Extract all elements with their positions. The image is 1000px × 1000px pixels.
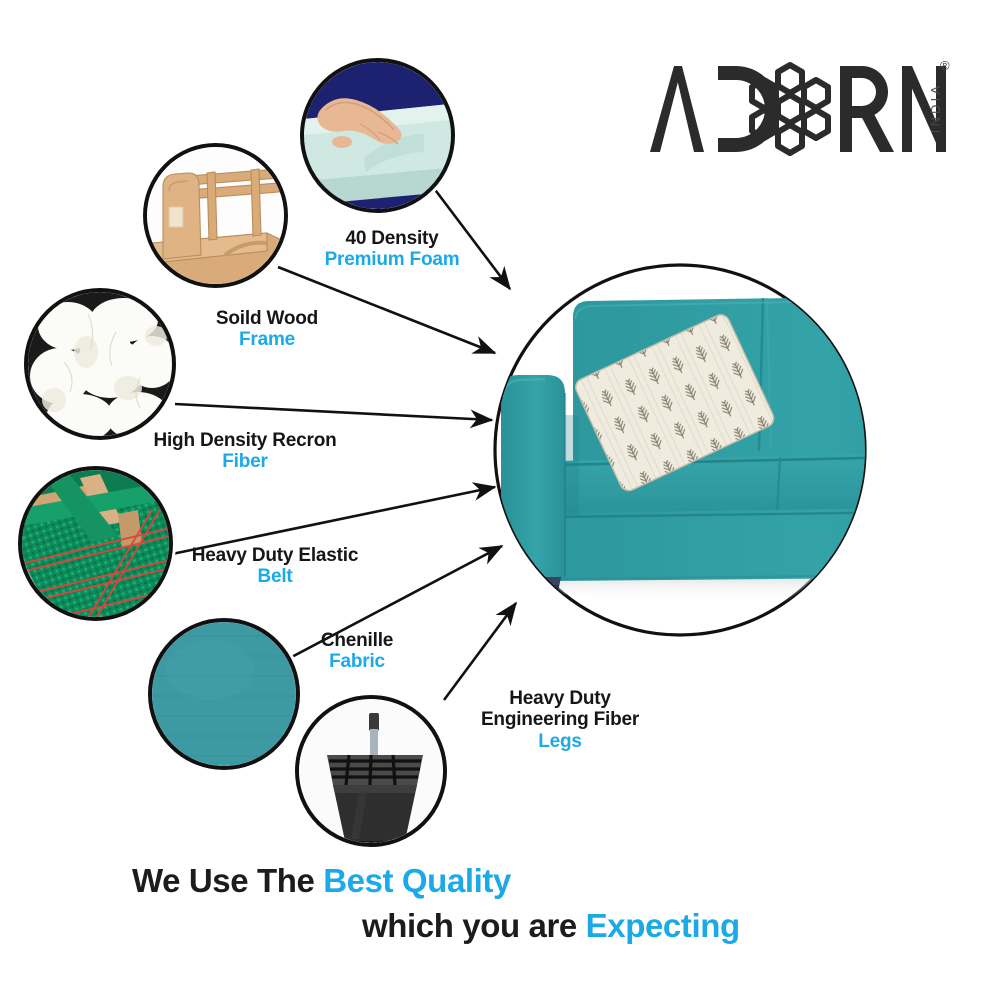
wooden-sofa-frame-photo [147,147,284,284]
label-fiber-legs-line2: Legs [450,731,670,752]
label-elastic-belt: Heavy Duty Elastic Belt [150,545,400,588]
label-wood-frame-line2: Frame [162,329,372,350]
label-premium-foam-line1: 40 Density [292,228,492,249]
label-chenille-fabric-line1: Chenille [272,630,442,651]
label-premium-foam-line2: Premium Foam [292,249,492,270]
label-elastic-belt-line1: Heavy Duty Elastic [150,545,400,566]
tagline-part4: Expecting [586,907,740,944]
feature-circle-recron-fiber [24,288,176,440]
tagline-line-1: We Use The Best Quality [0,862,1000,900]
arrow-fiber-legs [444,603,516,700]
label-elastic-belt-line2: Belt [150,566,400,587]
black-plastic-sofa-leg-photo [299,699,443,843]
green-elastic-webbing-photo [22,470,169,617]
feature-circle-fiber-legs [295,695,447,847]
logo-trademark: ® [940,58,950,73]
feature-circle-elastic-belt [18,466,173,621]
arrow-recron-fiber [175,404,492,420]
label-fiber-legs: Heavy Duty Engineering Fiber Legs [450,688,670,752]
tagline-line-2: which you are Expecting [0,907,1000,945]
label-fiber-legs-line1b: Engineering Fiber [450,709,670,730]
feature-circle-premium-foam [300,58,455,213]
label-chenille-fabric: Chenille Fabric [272,630,442,673]
tagline-part3: which you are [362,907,586,944]
tagline: We Use The Best Quality which you are Ex… [0,862,1000,945]
brand-logo: INDIA ® [640,52,950,162]
label-chenille-fabric-line2: Fabric [272,651,442,672]
label-recron-fiber: High Density Recron Fiber [110,430,380,473]
infographic-canvas: INDIA ® 40 Density Premium Foam [0,0,1000,1000]
logo-country-text: INDIA [928,83,943,134]
label-premium-foam: 40 Density Premium Foam [292,228,492,271]
arrow-elastic-belt [172,487,495,554]
label-recron-fiber-line1: High Density Recron [110,430,380,451]
white-polyester-fiber-photo [28,292,172,436]
tagline-part2: Best Quality [323,862,511,899]
feature-circle-wood-frame [143,143,288,288]
tagline-part1: We Use The [132,862,323,899]
label-recron-fiber-line2: Fiber [110,451,380,472]
foam-hand-press-photo [304,62,451,209]
label-fiber-legs-line1a: Heavy Duty [450,688,670,709]
product-sofa-image [495,265,1000,615]
label-wood-frame-line1: Soild Wood [162,308,372,329]
label-wood-frame: Soild Wood Frame [162,308,372,351]
